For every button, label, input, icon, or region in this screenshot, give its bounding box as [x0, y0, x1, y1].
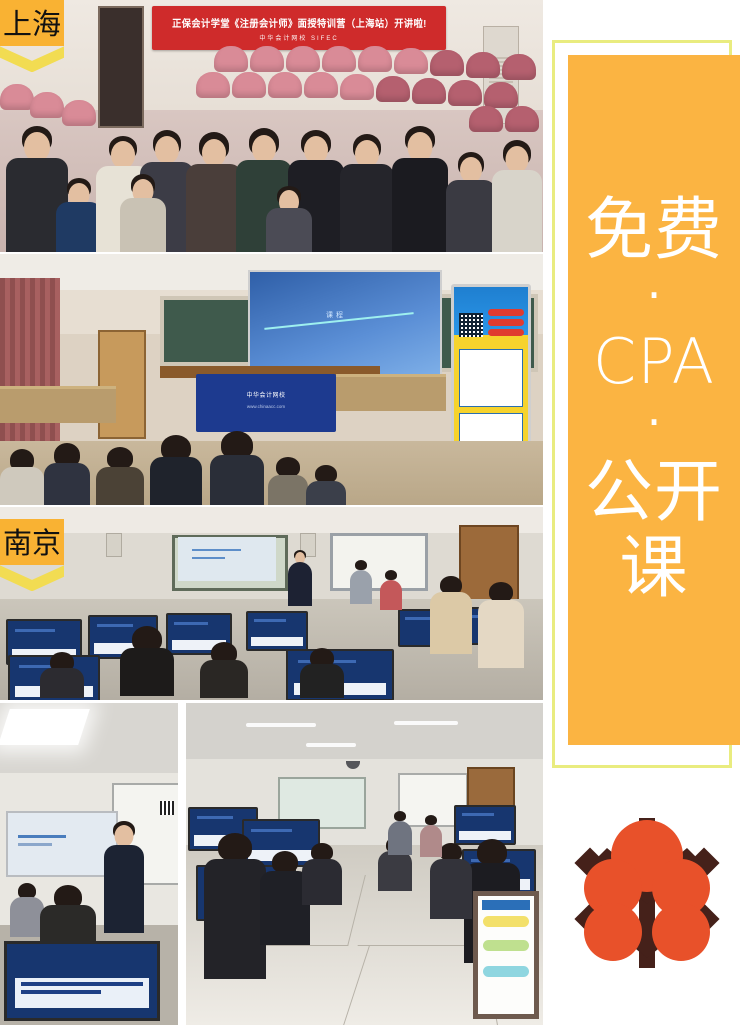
nanjing-label: 南京: [3, 528, 61, 559]
photo-collage: 正保会计学堂《注册会计师》面授特训营（上海站）开讲啦! 中华会计网校 SIFEC: [0, 0, 543, 1025]
sidebar-item-shanghai[interactable]: 上海: [0, 0, 64, 72]
whiteboard: [330, 533, 428, 591]
headline-line-1: 免费: [585, 193, 723, 269]
photo-classroom-left: [0, 703, 178, 1025]
banner-headline: 正保会计学堂《注册会计师》面授特训营（上海站）开讲啦!: [172, 15, 427, 30]
photo-shanghai-group: 正保会计学堂《注册会计师》面授特训营（上海站）开讲啦! 中华会计网校 SIFEC: [0, 0, 543, 252]
audience: [0, 427, 543, 505]
screen-text: 课程: [326, 310, 346, 320]
poster-root: 正保会计学堂《注册会计师》面授特训营（上海站）开讲啦! 中华会计网校 SIFEC: [0, 0, 750, 1025]
chevron-down-icon: [0, 46, 64, 72]
sidebar-item-nanjing[interactable]: 南京: [0, 519, 64, 591]
banner-brand: 中华会计网校 SIFEC: [259, 33, 338, 42]
monitor-text: [15, 978, 149, 1008]
headline-separator-2: ·: [647, 396, 662, 455]
monitor: [4, 941, 160, 1021]
headline-line-3: 公开课: [568, 455, 740, 607]
tree-logo: [565, 808, 729, 976]
shanghai-flag: 上海: [0, 0, 64, 46]
info-poster: [473, 891, 539, 1019]
monitor: [246, 611, 308, 651]
ceiling-light: [0, 709, 90, 745]
headline-separator-1: ·: [647, 269, 662, 328]
headline-card: 免费 · CPA · 公开课: [568, 55, 740, 745]
projection-screen: [6, 811, 118, 877]
right-panel: 免费 · CPA · 公开课: [543, 0, 750, 1025]
nanjing-flag: 南京: [0, 519, 64, 565]
shanghai-label: 上海: [3, 9, 61, 40]
projection-screen: [178, 537, 276, 581]
photo-lab-aisle: [186, 703, 543, 1025]
people-group: [0, 92, 543, 252]
qr-code-icon: [160, 801, 174, 815]
qr-code-icon: [459, 313, 483, 337]
photo-nanjing-lab: [0, 507, 543, 700]
instructor: [288, 550, 312, 608]
speaker: [104, 821, 144, 939]
chevron-down-icon: [0, 565, 64, 591]
headline-line-2: CPA: [593, 328, 715, 396]
photo-lecture-hall: 课程 中华会计网校 www.chinaacc.com: [0, 254, 543, 505]
